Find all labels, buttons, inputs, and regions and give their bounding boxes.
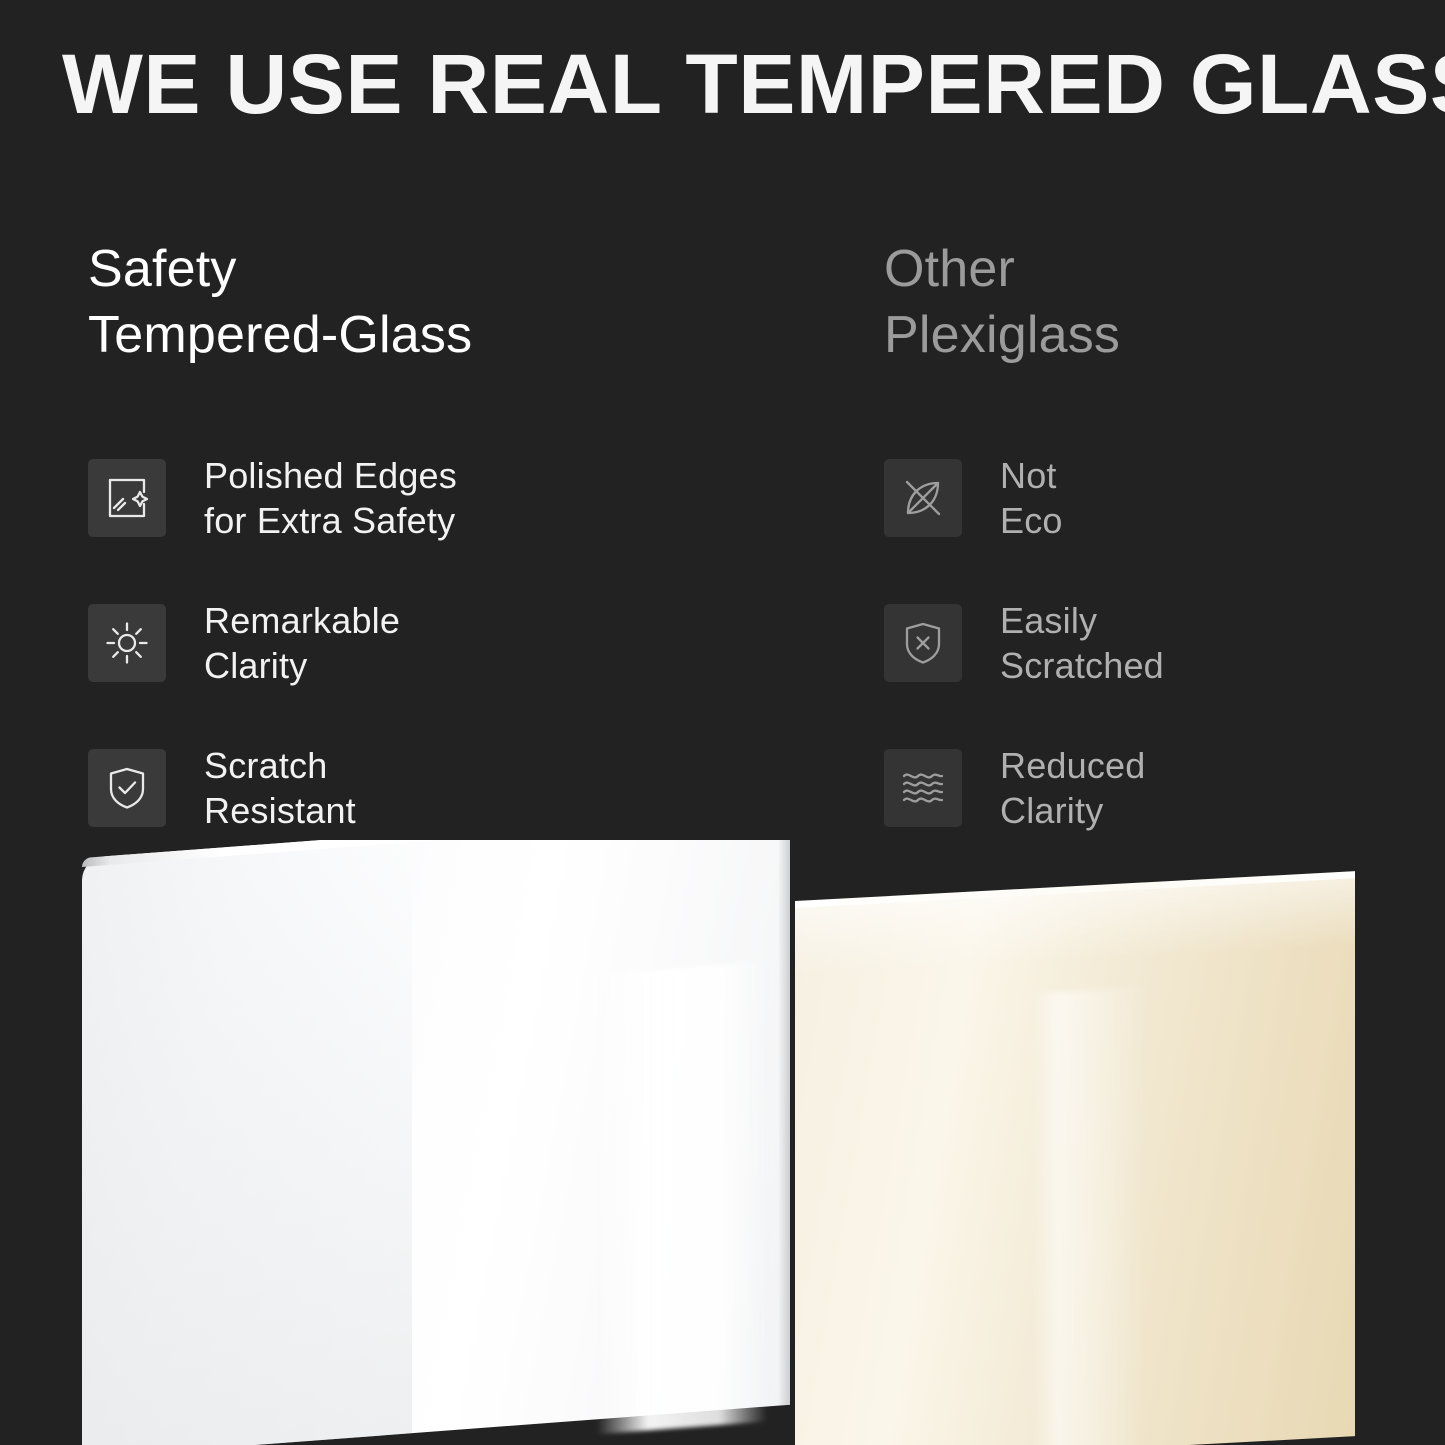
- feature-item: Not Eco: [884, 448, 1424, 548]
- tempered-glass-shading: [82, 840, 412, 1445]
- wavy-lines-icon: [900, 765, 946, 811]
- feature-item: Scratch Resistant: [88, 738, 788, 838]
- plexiglass-reflection: [1033, 987, 1145, 1445]
- feature-label: Easily Scratched: [1000, 598, 1164, 689]
- shield-check-icon: [104, 765, 150, 811]
- shield-x-icon: [900, 620, 946, 666]
- icon-tile: [884, 459, 962, 537]
- column-heading-plexiglass: Other Plexiglass: [884, 236, 1424, 368]
- feature-item: Reduced Clarity: [884, 738, 1424, 838]
- plexiglass-panel: [795, 876, 1355, 1445]
- icon-tile: [884, 749, 962, 827]
- feature-label: Polished Edges for Extra Safety: [204, 453, 457, 544]
- page-title: WE USE REAL TEMPERED GLASS: [62, 40, 1419, 128]
- product-photo: [0, 840, 1445, 1445]
- feature-item: Easily Scratched: [884, 593, 1424, 693]
- column-heading-tempered-glass: Safety Tempered-Glass: [88, 236, 788, 368]
- feature-label: Reduced Clarity: [1000, 743, 1146, 834]
- leaf-crossed-out-icon: [900, 475, 946, 521]
- tempered-glass-panel: [82, 840, 790, 1445]
- feature-list-tempered-glass: Polished Edges for Extra Safety: [88, 448, 788, 883]
- column-tempered-glass: Safety Tempered-Glass Polished: [88, 236, 788, 368]
- icon-tile: [884, 604, 962, 682]
- photo-left-margin: [0, 840, 82, 1445]
- photo-right-margin: [1357, 840, 1445, 1445]
- column-plexiglass: Other Plexiglass Not Eco: [884, 236, 1424, 368]
- feature-label: Remarkable Clarity: [204, 598, 400, 689]
- icon-tile: [88, 459, 166, 537]
- feature-label: Not Eco: [1000, 453, 1063, 544]
- feature-item: Remarkable Clarity: [88, 593, 788, 693]
- tempered-glass-reflection: [597, 961, 767, 1434]
- feature-label: Scratch Resistant: [204, 743, 356, 834]
- sun-clarity-icon: [104, 620, 150, 666]
- icon-tile: [88, 749, 166, 827]
- comparison-infographic: WE USE REAL TEMPERED GLASS Safety Temper…: [0, 0, 1445, 1445]
- polished-glass-pane-icon: [104, 475, 150, 521]
- icon-tile: [88, 604, 166, 682]
- feature-item: Polished Edges for Extra Safety: [88, 448, 788, 548]
- feature-list-plexiglass: Not Eco Easily Scratched: [884, 448, 1424, 883]
